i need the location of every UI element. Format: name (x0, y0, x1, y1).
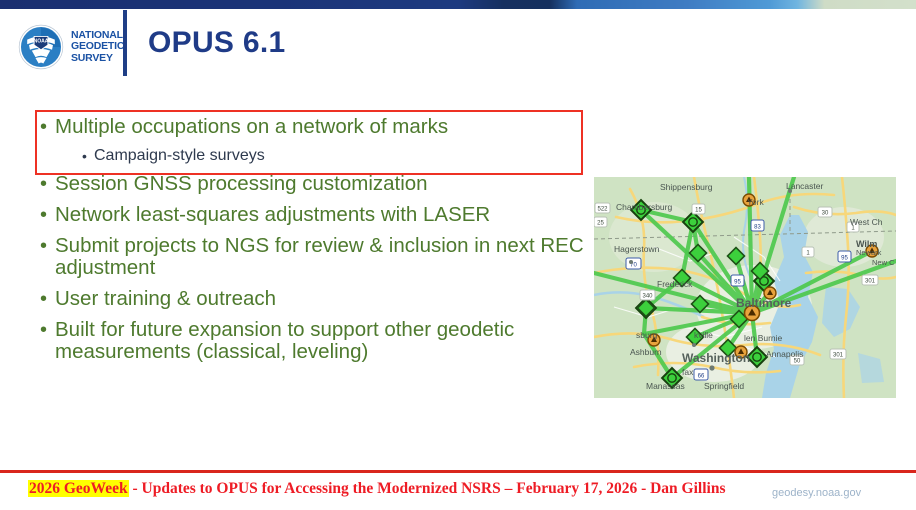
footer-caption: 2026 GeoWeek - Updates to OPUS for Acces… (28, 480, 726, 498)
bullet-text-0: Multiple occupations on a network of mar… (55, 116, 585, 138)
bullet-item-1: • Session GNSS processing customization (40, 173, 585, 195)
noaa-seal-icon: NOAA (18, 24, 64, 70)
svg-text:Hagerstown: Hagerstown (614, 244, 660, 254)
header-divider (123, 10, 127, 76)
site-url-watermark: geodesy.noaa.gov (772, 487, 861, 499)
ngs-logo: NOAA NATIONAL GEODETIC SURVEY (18, 24, 124, 70)
subbullet-text-0: Campaign-style surveys (94, 147, 265, 165)
svg-text:30: 30 (822, 211, 829, 217)
svg-text:Frederick: Frederick (657, 279, 693, 289)
svg-text:66: 66 (698, 374, 705, 380)
bullet-marker-icon: • (40, 116, 55, 138)
svg-text:95: 95 (841, 256, 848, 262)
svg-text:Annapolis: Annapolis (766, 349, 803, 359)
footer-divider (0, 470, 916, 473)
svg-text:301: 301 (833, 353, 844, 359)
svg-text:sburg: sburg (636, 330, 658, 340)
bullet-marker-icon: • (40, 204, 55, 226)
svg-text:83: 83 (754, 225, 761, 231)
svg-text:York: York (747, 197, 764, 207)
slide: NOAA NATIONAL GEODETIC SURVEY OPUS 6.1 •… (0, 0, 916, 510)
bullet-marker-icon: • (40, 288, 55, 310)
bullet-text-1: Session GNSS processing customization (55, 173, 585, 195)
bullet-item-2: • Network least-squares adjustments with… (40, 204, 585, 226)
svg-text:522: 522 (597, 207, 608, 213)
subbullet-item-0: • Campaign-style surveys (82, 147, 585, 165)
ngs-logo-text: NATIONAL GEODETIC SURVEY (71, 30, 124, 65)
network-map-image: 522 15 83 70 (594, 177, 896, 398)
svg-text:Manassas: Manassas (646, 381, 685, 391)
bullet-text-3: Submit projects to NGS for review & incl… (55, 235, 585, 279)
footer-separator: - (129, 480, 142, 497)
bullet-marker-icon: • (40, 319, 55, 341)
svg-text:Lancaster: Lancaster (786, 181, 823, 191)
footer-title-text: Updates to OPUS for Accessing the Modern… (142, 480, 726, 497)
svg-text:kville: kville (694, 330, 713, 340)
bullet-text-2: Network least-squares adjustments with L… (55, 204, 585, 226)
svg-text:Baltimore: Baltimore (736, 296, 792, 310)
svg-text:Ashburn: Ashburn (630, 347, 662, 357)
svg-text:len Burnie: len Burnie (744, 333, 783, 343)
svg-text:95: 95 (734, 280, 741, 286)
svg-text:301: 301 (865, 279, 876, 285)
svg-text:15: 15 (695, 208, 702, 214)
svg-text:NOAA: NOAA (34, 38, 49, 44)
slide-header: NOAA NATIONAL GEODETIC SURVEY OPUS 6.1 (0, 10, 916, 82)
page-title: OPUS 6.1 (148, 26, 285, 60)
svg-text:Newark: Newark (856, 248, 882, 257)
bullet-marker-icon: • (40, 173, 55, 195)
subbullet-marker-icon: • (82, 147, 94, 165)
bullet-marker-icon: • (40, 235, 55, 257)
svg-text:50: 50 (794, 359, 801, 365)
top-gradient-bar (0, 0, 916, 9)
bullet-text-4: User training & outreach (55, 288, 585, 310)
bullet-list: • Multiple occupations on a network of m… (40, 116, 585, 372)
svg-text:Shippensburg: Shippensburg (660, 182, 713, 192)
svg-text:West Ch: West Ch (850, 217, 883, 227)
logo-line-3: SURVEY (71, 53, 124, 65)
bullet-item-4: • User training & outreach (40, 288, 585, 310)
bullet-item-0: • Multiple occupations on a network of m… (40, 116, 585, 138)
svg-text:Washington: Washington (682, 351, 750, 365)
bullet-item-5: • Built for future expansion to support … (40, 319, 585, 363)
svg-text:New C: New C (872, 258, 895, 267)
geoweek-badge: 2026 GeoWeek (28, 480, 129, 497)
map-graphic: 522 15 83 70 (594, 177, 896, 398)
svg-text:Chambersburg: Chambersburg (616, 202, 672, 212)
svg-text:340: 340 (642, 294, 653, 300)
svg-text:Springfield: Springfield (704, 381, 744, 391)
bullet-item-3: • Submit projects to NGS for review & in… (40, 235, 585, 279)
bullet-text-5: Built for future expansion to support ot… (55, 319, 585, 363)
svg-text:25: 25 (597, 221, 604, 227)
svg-text:fax: fax (682, 367, 694, 377)
